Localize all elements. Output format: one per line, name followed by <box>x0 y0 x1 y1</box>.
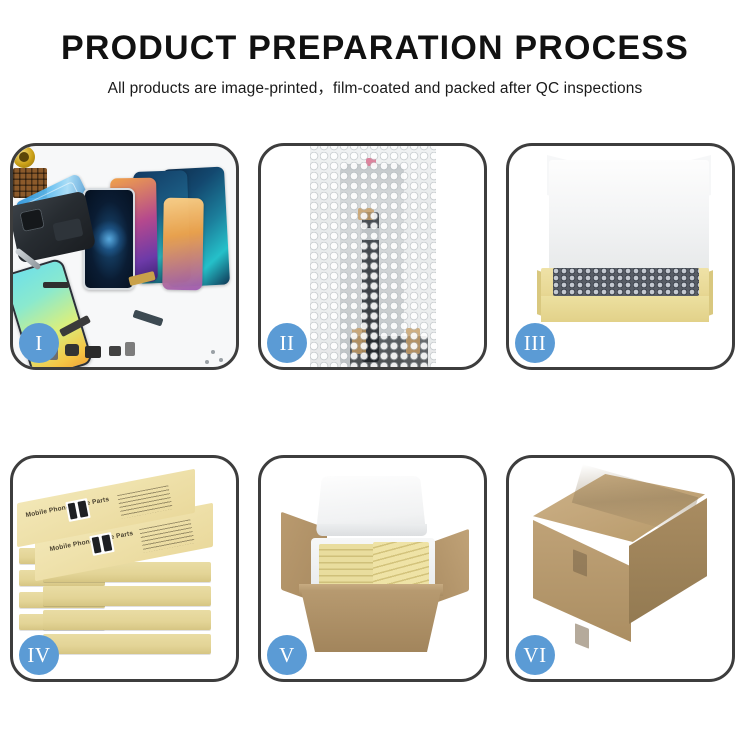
white-box-lid <box>549 160 709 272</box>
part-speaker-coil <box>13 146 35 168</box>
step-badge-3: III <box>515 323 555 363</box>
bubble-wrapped-contents <box>553 268 699 296</box>
screw-icon <box>211 350 215 354</box>
phone-back-orange <box>162 198 204 291</box>
step-badge-1: I <box>19 323 59 363</box>
kraft-boxes-inside-right <box>373 542 429 588</box>
step-badge-5: V <box>267 635 307 675</box>
process-step-panel-3[interactable]: III <box>506 143 735 370</box>
process-step-panel-2[interactable]: II <box>258 143 487 370</box>
process-step-grid: I II <box>10 143 740 682</box>
carton-body <box>301 590 441 652</box>
part-camera-module <box>65 344 79 356</box>
part-flex-cable-2 <box>132 310 163 327</box>
part-speaker <box>85 346 101 358</box>
process-step-panel-4[interactable]: Mobile Phone Spare Parts Mobile Phone Sp… <box>10 455 239 682</box>
bubble-texture <box>310 146 436 367</box>
process-step-panel-5[interactable]: V <box>258 455 487 682</box>
stack-box-front <box>43 586 211 606</box>
step-badge-4: IV <box>19 635 59 675</box>
screw-icon <box>205 360 209 364</box>
box-label-swatch-upper <box>65 498 90 522</box>
screw-icon <box>219 358 223 362</box>
product-preparation-process-page: PRODUCT PREPARATION PROCESS All products… <box>0 0 750 750</box>
process-step-panel-6[interactable]: VI <box>506 455 735 682</box>
step-badge-6: VI <box>515 635 555 675</box>
part-small-component-b <box>125 342 135 356</box>
bubble-wrap-sheet <box>310 146 436 367</box>
process-step-panel-1[interactable]: I <box>10 143 239 370</box>
stack-box-front <box>43 634 211 654</box>
carton-tape-lower <box>575 623 589 649</box>
box-label-swatch-lower <box>89 532 114 556</box>
part-connector-bar <box>43 282 69 288</box>
page-header: PRODUCT PREPARATION PROCESS All products… <box>0 0 750 98</box>
page-title: PRODUCT PREPARATION PROCESS <box>0 30 750 67</box>
step-badge-2: II <box>267 323 307 363</box>
carton-front-face <box>533 520 631 642</box>
foam-box-lid-edge <box>317 524 427 536</box>
page-subtitle: All products are image-printed，film-coat… <box>0 76 750 98</box>
part-small-component-a <box>109 346 121 356</box>
stack-box-front <box>43 610 211 630</box>
kraft-box-front-panel <box>541 296 709 322</box>
